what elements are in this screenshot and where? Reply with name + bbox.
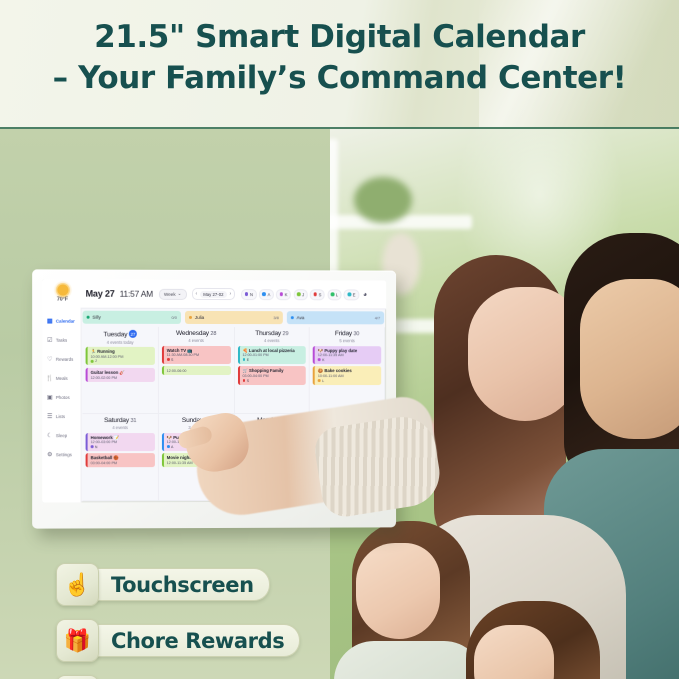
sidebar-item-label: Sleep	[56, 433, 67, 438]
tasks-icon: ☑	[46, 337, 53, 344]
avatar-chip-e[interactable]: E	[344, 289, 359, 300]
event-time: 12:00-02:00 PM	[91, 376, 152, 380]
child-one-face	[356, 543, 440, 639]
event-title: 🛒 Shopping Family	[242, 368, 303, 373]
day-number: 28	[210, 331, 216, 337]
sidebar-item-calendar[interactable]: ▦Calendar	[42, 312, 80, 331]
product-marketing-image: 21.5" Smart Digital Calendar – Your Fami…	[0, 0, 679, 679]
event-card[interactable]: 12:00-06:00	[162, 366, 231, 375]
member-avatars: NAKJSLE	[241, 289, 359, 300]
day-cell-wednesday[interactable]: Wednesday284 eventsWatch TV 📺11:30 AM-08…	[159, 327, 235, 414]
event-card[interactable]: 🏃 Running10:00 AM-12:00 PMJ	[86, 347, 155, 365]
headline-line-1: 21.5" Smart Digital Calendar	[94, 19, 585, 55]
event-time: 12:00-11:35 AM	[318, 353, 378, 357]
event-member: E	[242, 358, 303, 362]
member-filter-name: Silly	[87, 315, 101, 320]
feature-badge-touchscreen: ☝Touchscreen	[56, 563, 332, 606]
member-filter-name: Julia	[189, 315, 204, 320]
avatar-letter: A	[267, 292, 270, 297]
day-title: Wednesday28	[162, 330, 231, 337]
event-card[interactable]: 🐶 Puppy play date12:00-11:35 AMK	[313, 346, 381, 364]
day-event-count: 4 events	[162, 338, 231, 343]
sidebar-item-tasks[interactable]: ☑Tasks	[42, 331, 80, 350]
event-title: Watch TV 📺	[167, 347, 228, 352]
event-member: S	[242, 379, 303, 383]
lifestyle-scene: 70°F May 27 11:57 AM Week ⌄ ‹ May 27-02 …	[0, 129, 679, 679]
event-card[interactable]: 🛒 Shopping Family03:00-04:00 PMS	[237, 366, 306, 384]
member-filter-julia[interactable]: Julia3/8	[185, 311, 283, 324]
day-title: Thursday29	[237, 330, 306, 337]
header-time: 11:57 AM	[120, 289, 153, 299]
event-member: K	[318, 358, 378, 362]
date-range-label: May 27-02	[200, 290, 226, 297]
event-member: N	[91, 445, 152, 449]
avatar-dot	[280, 292, 284, 296]
event-member-dot	[242, 379, 245, 382]
rewards-icon: ♡	[46, 356, 53, 363]
chevron-down-icon: ⌄	[178, 291, 182, 297]
avatar-dot	[331, 293, 335, 297]
page-title: 21.5" Smart Digital Calendar – Your Fami…	[0, 17, 679, 98]
avatar-letter: S	[319, 292, 322, 297]
event-card[interactable]: 🍪 Bake cookies10:00-11:00 AML	[313, 366, 381, 384]
touch-hand-icon: ☝	[56, 563, 99, 606]
member-dot	[189, 316, 192, 319]
avatar-letter: E	[353, 292, 356, 297]
sidebar-item-label: Meals	[56, 376, 68, 381]
app-header: 70°F May 27 11:57 AM Week ⌄ ‹ May 27-02 …	[42, 279, 386, 309]
sidebar-item-label: Settings	[56, 452, 72, 457]
event-title: 🍪 Bake cookies	[318, 368, 378, 373]
avatar-dot	[297, 292, 301, 296]
member-filter-ava[interactable]: Ava4/7	[287, 311, 384, 324]
member-filter-count: 4/7	[375, 315, 381, 320]
feature-label: Chore Rewards	[95, 624, 300, 657]
member-filter-silly[interactable]: Silly0/0	[83, 311, 181, 324]
sidebar-item-photos[interactable]: ▣Photos	[42, 388, 80, 407]
sidebar-item-label: Rewards	[56, 357, 73, 362]
event-member: J	[91, 359, 152, 363]
event-title: 🍕 Lunch at local pizzeria	[242, 348, 303, 353]
lists-icon: ☰	[46, 413, 53, 420]
father-face	[580, 279, 679, 439]
avatar-chip-j[interactable]: J	[293, 289, 307, 300]
day-number: 30	[353, 331, 359, 337]
app-sidebar: ▦Calendar☑Tasks♡Rewards🍴Meals▣Photos☰Lis…	[42, 308, 81, 503]
member-dot	[291, 316, 294, 319]
avatar-chip-a[interactable]: A	[259, 289, 274, 300]
next-week-icon[interactable]: ›	[230, 291, 232, 297]
member-dot	[87, 316, 90, 319]
today-badge: 27	[129, 330, 137, 338]
day-event-count: 4 events	[86, 425, 155, 430]
event-member-dot	[318, 379, 321, 382]
member-filter-count: 0/0	[171, 315, 177, 320]
meals-icon: 🍴	[46, 375, 53, 382]
event-card[interactable]: 🍕 Lunch at local pizzeria12:00-01:00 PME	[237, 346, 306, 364]
day-event-count: 5 events	[313, 338, 381, 343]
child-two-face	[474, 625, 554, 679]
member-filter-bars: Silly0/0Julia3/8Ava4/7	[83, 311, 385, 325]
sidebar-item-label: Tasks	[56, 338, 67, 343]
event-member-dot	[318, 359, 321, 362]
sidebar-item-sleep[interactable]: ☾Sleep	[42, 426, 80, 445]
event-card[interactable]: Guitar lesson 🎸12:00-02:00 PM	[86, 368, 155, 382]
event-title: Basketball 🏀	[91, 455, 152, 460]
event-time: 03:00-04:00 PM	[91, 461, 152, 465]
event-time: 03:00-04:00 PM	[242, 374, 303, 378]
gift-icon-glyph: 🎁	[64, 630, 91, 652]
event-card[interactable]: Basketball 🏀03:00-04:00 PM	[86, 453, 155, 467]
day-event-count: 4 events	[237, 338, 306, 343]
event-member: L	[318, 379, 378, 383]
event-member-dot	[91, 360, 94, 363]
photo-icon: 🖼	[56, 675, 99, 679]
event-time: 12:00-06:00	[167, 369, 228, 373]
sidebar-item-settings[interactable]: ⚙Settings	[42, 445, 80, 464]
sidebar-item-rewards[interactable]: ♡Rewards	[42, 350, 80, 369]
sidebar-item-label: Lists	[56, 414, 65, 419]
event-title: Homework 📝	[91, 435, 152, 440]
event-member: S	[167, 358, 228, 362]
weather-widget[interactable]: 70°F	[42, 284, 82, 302]
avatar-letter: K	[285, 292, 288, 297]
event-time: 12:00-01:00 PM	[242, 353, 303, 357]
member-filter-name: Ava	[291, 315, 305, 320]
member-filter-count: 3/8	[273, 315, 279, 320]
settings-icon: ⚙	[46, 451, 53, 458]
event-card[interactable]: Watch TV 📺11:30 AM-08:30 PMS	[162, 345, 231, 363]
avatar-chip-k[interactable]: K	[276, 289, 291, 300]
header-date: May 27	[86, 289, 115, 299]
event-time: 10:00-11:00 AM	[318, 374, 378, 378]
view-selector-label: Week	[164, 291, 176, 296]
avatar-chip-l[interactable]: L	[327, 289, 342, 300]
feature-badge-list: ☝Touchscreen🎁Chore Rewards🖼Photo Frame⇄M…	[56, 563, 332, 679]
child-one-body	[334, 641, 484, 679]
event-member-dot	[91, 446, 94, 449]
date-range-nav[interactable]: ‹ May 27-02 ›	[192, 288, 236, 300]
feature-label: Touchscreen	[95, 568, 270, 601]
event-card[interactable]: Homework 📝12:00-03:00 PMN	[86, 433, 155, 451]
day-cell-thursday[interactable]: Thursday294 events🍕 Lunch at local pizze…	[234, 327, 309, 414]
sidebar-item-lists[interactable]: ☰Lists	[42, 407, 80, 426]
sidebar-item-meals[interactable]: 🍴Meals	[42, 369, 80, 388]
photos-icon: ▣	[46, 394, 53, 401]
headline-line-2: – Your Family’s Command Center!	[0, 58, 679, 99]
day-event-count: 4 events today	[86, 339, 155, 344]
avatar-dot	[313, 292, 317, 296]
headline-band: 21.5" Smart Digital Calendar – Your Fami…	[0, 0, 679, 128]
day-title: Tuesday27	[86, 330, 155, 339]
sun-icon	[57, 285, 68, 296]
avatar-letter: N	[250, 292, 253, 297]
feature-badge-photo-frame: 🖼Photo Frame	[56, 675, 332, 679]
event-member-dot	[242, 358, 245, 361]
day-cell-tuesday[interactable]: Tuesday274 events today🏃 Running10:00 AM…	[83, 327, 159, 414]
day-number: 31	[130, 418, 136, 424]
sleep-icon: ☾	[46, 432, 53, 439]
event-title: 🏃 Running	[91, 349, 152, 354]
wifi-icon: ◕	[363, 291, 367, 298]
day-number: 29	[283, 331, 289, 337]
event-member-dot	[167, 446, 170, 449]
calendar-icon: ▦	[46, 318, 53, 325]
avatar-letter: J	[302, 292, 304, 297]
event-time: 11:30 AM-08:30 PM	[167, 353, 228, 357]
event-member-dot	[167, 358, 170, 361]
avatar-dot	[347, 293, 351, 297]
event-time: 12:00-03:00 PM	[91, 440, 152, 444]
touch-hand-icon-glyph: ☝	[64, 574, 91, 596]
avatar-letter: L	[336, 292, 338, 297]
sidebar-item-label: Photos	[56, 395, 70, 400]
feature-badge-chore-rewards: 🎁Chore Rewards	[56, 619, 332, 662]
avatar-dot	[262, 292, 266, 296]
event-title: 🐶 Puppy play date	[318, 348, 378, 353]
avatar-chip-n[interactable]: N	[241, 289, 256, 300]
day-cell-saturday[interactable]: Saturday314 eventsHomework 📝12:00-03:00 …	[83, 414, 159, 501]
gift-icon: 🎁	[56, 619, 99, 662]
plant-decor	[354, 177, 412, 223]
day-title: Friday30	[313, 330, 381, 337]
event-title: Guitar lesson 🎸	[91, 370, 152, 375]
prev-week-icon[interactable]: ‹	[196, 291, 198, 297]
sidebar-item-label: Calendar	[56, 319, 75, 324]
day-title: Saturday31	[86, 417, 155, 424]
view-selector[interactable]: Week ⌄	[159, 288, 187, 299]
avatar-dot	[245, 292, 249, 296]
avatar-chip-s[interactable]: S	[310, 289, 325, 300]
event-time: 10:00 AM-12:00 PM	[91, 355, 152, 359]
